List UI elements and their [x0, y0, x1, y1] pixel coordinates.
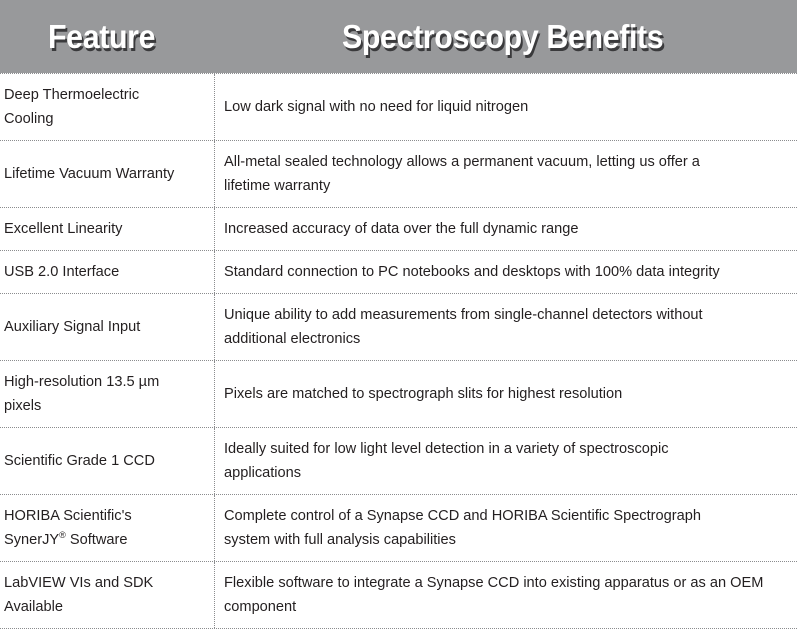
- benefit-text-line: Flexible software to integrate a Synapse…: [224, 571, 793, 595]
- benefit-text-line: applications: [224, 461, 793, 485]
- table-row: Auxiliary Signal InputUnique ability to …: [0, 294, 797, 361]
- benefit-cell: Unique ability to add measurements from …: [215, 294, 797, 360]
- table-row: LabVIEW VIs and SDKAvailableFlexible sof…: [0, 562, 797, 629]
- benefit-cell: Ideally suited for low light level detec…: [215, 428, 797, 494]
- feature-text-line: Scientific Grade 1 CCD: [4, 449, 204, 473]
- benefit-text-line: Standard connection to PC notebooks and …: [224, 260, 793, 284]
- table-row: Scientific Grade 1 CCDIdeally suited for…: [0, 428, 797, 495]
- benefit-text-line: Complete control of a Synapse CCD and HO…: [224, 504, 793, 528]
- feature-text-line: LabVIEW VIs and SDK: [4, 571, 204, 595]
- feature-text-line: USB 2.0 Interface: [4, 260, 204, 284]
- benefit-text-line: lifetime warranty: [224, 174, 793, 198]
- benefit-text-line: system with full analysis capabilities: [224, 528, 793, 552]
- table-row: HORIBA Scientific'sSynerJY® SoftwareComp…: [0, 495, 797, 562]
- feature-text-line: HORIBA Scientific's: [4, 504, 204, 528]
- benefit-cell: Pixels are matched to spectrograph slits…: [215, 361, 797, 427]
- feature-cell: Scientific Grade 1 CCD: [0, 428, 215, 494]
- feature-text-line: Auxiliary Signal Input: [4, 315, 204, 339]
- table-row: High-resolution 13.5 µmpixelsPixels are …: [0, 361, 797, 428]
- benefit-text-line: Low dark signal with no need for liquid …: [224, 95, 793, 119]
- feature-cell: Auxiliary Signal Input: [0, 294, 215, 360]
- benefit-cell: Complete control of a Synapse CCD and HO…: [215, 495, 797, 561]
- feature-text-line: Cooling: [4, 107, 204, 131]
- feature-text-line: Deep Thermoelectric: [4, 83, 204, 107]
- feature-cell: USB 2.0 Interface: [0, 251, 215, 293]
- feature-benefits-table: Feature Spectroscopy Benefits Deep Therm…: [0, 0, 797, 455]
- table-header-band: Feature Spectroscopy Benefits: [0, 0, 797, 73]
- benefit-text-line: Unique ability to add measurements from …: [224, 303, 793, 327]
- benefit-text-line: Pixels are matched to spectrograph slits…: [224, 382, 793, 406]
- feature-text-line: High-resolution 13.5 µm: [4, 370, 204, 394]
- table-row: Excellent LinearityIncreased accuracy of…: [0, 208, 797, 251]
- table-row: Deep ThermoelectricCoolingLow dark signa…: [0, 73, 797, 141]
- feature-cell: Deep ThermoelectricCooling: [0, 74, 215, 140]
- table-row: Lifetime Vacuum WarrantyAll-metal sealed…: [0, 141, 797, 208]
- feature-text-line: Excellent Linearity: [4, 217, 204, 241]
- benefit-text-line: All-metal sealed technology allows a per…: [224, 150, 793, 174]
- benefit-cell: Standard connection to PC notebooks and …: [215, 251, 797, 293]
- benefit-cell: Low dark signal with no need for liquid …: [215, 74, 797, 140]
- benefit-cell: Flexible software to integrate a Synapse…: [215, 562, 797, 628]
- benefit-cell: Increased accuracy of data over the full…: [215, 208, 797, 250]
- feature-cell: Lifetime Vacuum Warranty: [0, 141, 215, 207]
- table-row: USB 2.0 InterfaceStandard connection to …: [0, 251, 797, 294]
- feature-cell: LabVIEW VIs and SDKAvailable: [0, 562, 215, 628]
- benefit-cell: All-metal sealed technology allows a per…: [215, 141, 797, 207]
- feature-text-line: Available: [4, 595, 204, 619]
- feature-cell: Excellent Linearity: [0, 208, 215, 250]
- feature-cell: HORIBA Scientific'sSynerJY® Software: [0, 495, 215, 561]
- feature-text-line: pixels: [4, 394, 204, 418]
- benefit-text-line: additional electronics: [224, 327, 793, 351]
- column-header-spectroscopy-benefits: Spectroscopy Benefits: [342, 0, 663, 73]
- feature-cell: High-resolution 13.5 µmpixels: [0, 361, 215, 427]
- benefit-text-line: component: [224, 595, 793, 619]
- feature-text-line: SynerJY® Software: [4, 528, 204, 552]
- table-body: Deep ThermoelectricCoolingLow dark signa…: [0, 73, 797, 629]
- benefit-text-line: Increased accuracy of data over the full…: [224, 217, 793, 241]
- feature-text-line: Lifetime Vacuum Warranty: [4, 162, 204, 186]
- column-header-feature: Feature: [48, 0, 155, 73]
- benefit-text-line: Ideally suited for low light level detec…: [224, 437, 793, 461]
